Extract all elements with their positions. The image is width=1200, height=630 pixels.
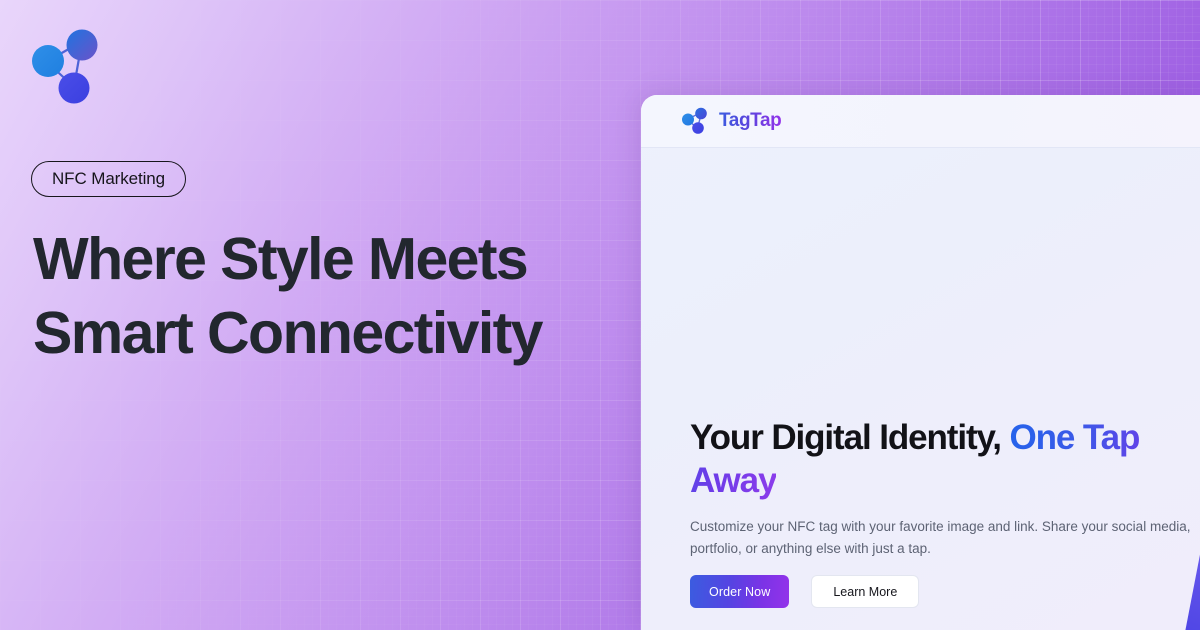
headline-line-2: Smart Connectivity: [33, 296, 633, 370]
card-title-plain: Your Digital Identity,: [690, 418, 1001, 457]
headline-line-1: Where Style Meets: [33, 222, 633, 296]
card-description: Customize your NFC tag with your favorit…: [690, 516, 1195, 560]
tagtap-wordmark: TagTap: [719, 110, 781, 132]
card-actions: Order Now Learn More: [690, 575, 919, 608]
product-preview-card: TagTap Your Digital Identity, One Tap Aw…: [641, 95, 1200, 630]
card-title: Your Digital Identity, One Tap Away: [690, 416, 1190, 502]
order-now-button[interactable]: Order Now: [690, 575, 789, 608]
card-header: TagTap: [641, 95, 1200, 148]
learn-more-button[interactable]: Learn More: [811, 575, 919, 608]
hero-headline: Where Style Meets Smart Connectivity: [33, 222, 633, 370]
tagtap-nodes-logo: [680, 107, 710, 135]
badge-label: NFC Marketing: [52, 169, 165, 189]
left-hero-column: NFC Marketing Where Style Meets Smart Co…: [0, 0, 640, 630]
nfc-marketing-badge[interactable]: NFC Marketing: [31, 161, 186, 197]
tagtap-nodes-logo: [27, 23, 105, 105]
